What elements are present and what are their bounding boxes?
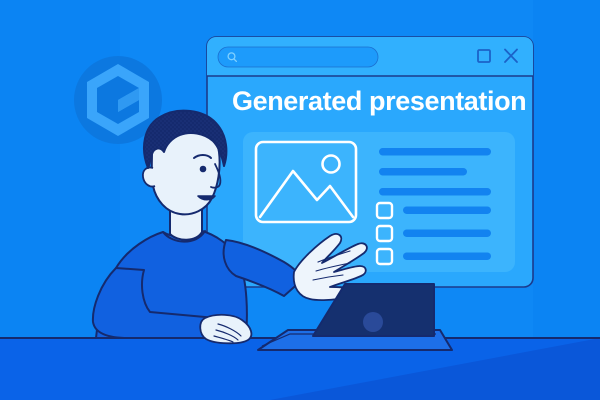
maximize-button-hit[interactable]	[474, 46, 495, 67]
page-title: Generated presentation	[232, 84, 532, 118]
illustration-canvas: Generated presentation	[0, 0, 600, 400]
circle-logo	[363, 312, 383, 332]
text-bar	[379, 148, 491, 156]
close-button-hit[interactable]	[501, 46, 522, 67]
text-bar	[403, 253, 491, 261]
eye	[200, 166, 207, 173]
text-bar	[379, 188, 491, 196]
search-input-hit[interactable]	[218, 47, 378, 67]
text-bar	[403, 207, 491, 215]
slide-content-card	[243, 132, 515, 272]
text-bar	[379, 168, 467, 176]
text-bar	[403, 230, 491, 238]
